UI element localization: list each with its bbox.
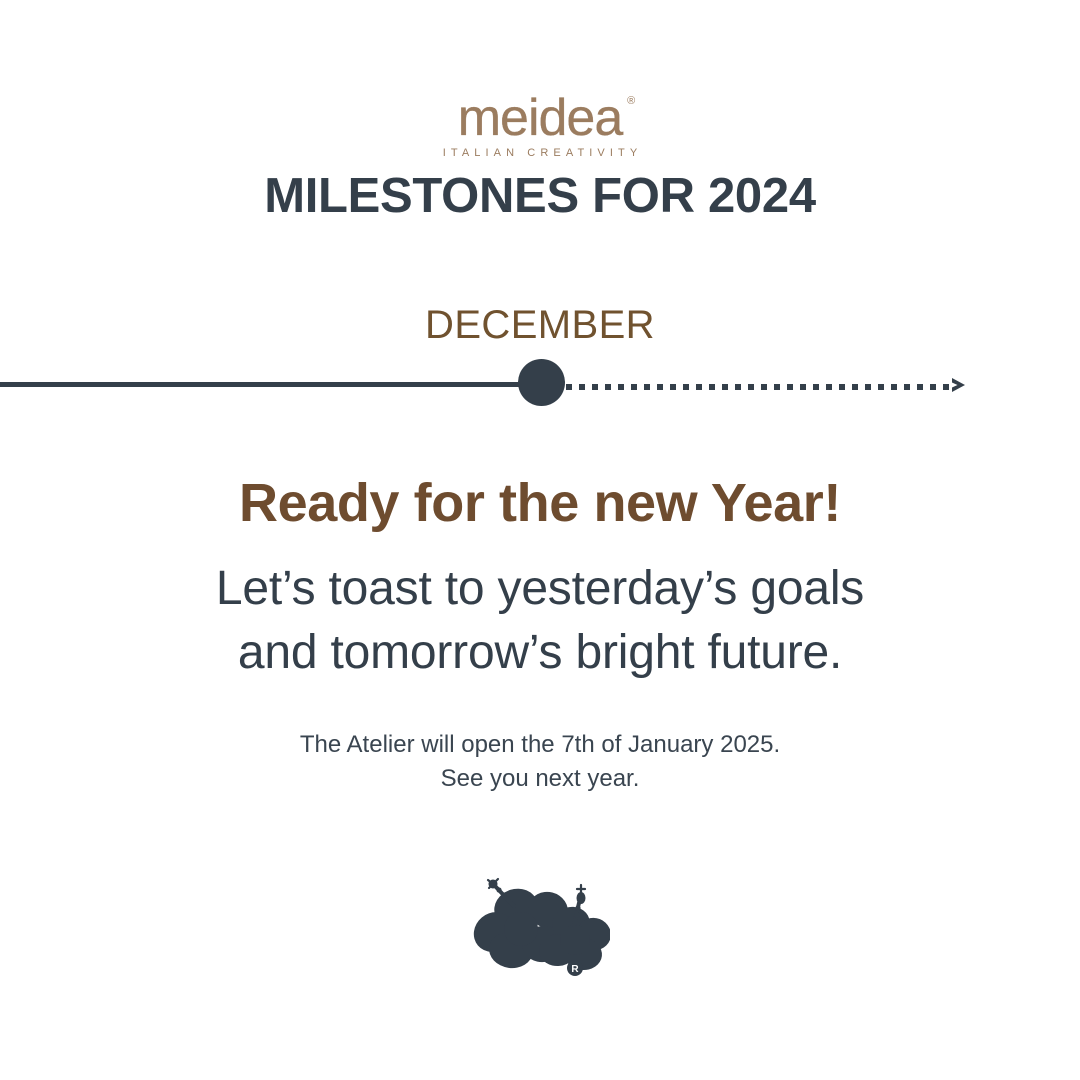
timeline (0, 360, 1080, 420)
poster-canvas: meidea ® ITALIAN CREATIVITY MILESTONES F… (0, 0, 1080, 1080)
note: The Atelier will open the 7th of January… (0, 728, 1080, 796)
timeline-arrow-right-icon (948, 373, 972, 402)
timeline-dotted-line (566, 379, 952, 389)
note-line-1: The Atelier will open the 7th of January… (0, 728, 1080, 762)
logo-tagline: ITALIAN CREATIVITY (0, 147, 1080, 159)
timeline-solid-line (0, 382, 541, 387)
subheadline-line-2: and tomorrow’s bright future. (0, 621, 1080, 685)
note-line-2: See you next year. (0, 762, 1080, 796)
headline: Ready for the new Year! (0, 470, 1080, 536)
subheadline-line-1: Let’s toast to yesterday’s goals (0, 557, 1080, 621)
registered-trademark-icon: ® (627, 96, 635, 107)
hibiscus-flower-icon: R (0, 872, 1080, 982)
page-title: MILESTONES FOR 2024 (0, 167, 1080, 225)
logo-wordmark-wrap: meidea ® (458, 94, 623, 142)
subheadline: Let’s toast to yesterday’s goals and tom… (0, 557, 1080, 685)
logo-wordmark: meidea (458, 94, 623, 142)
brand-logo: meidea ® ITALIAN CREATIVITY (0, 94, 1080, 159)
timeline-month-label: DECEMBER (0, 301, 1080, 349)
svg-text:R: R (571, 964, 579, 975)
timeline-current-marker-icon (518, 359, 565, 406)
